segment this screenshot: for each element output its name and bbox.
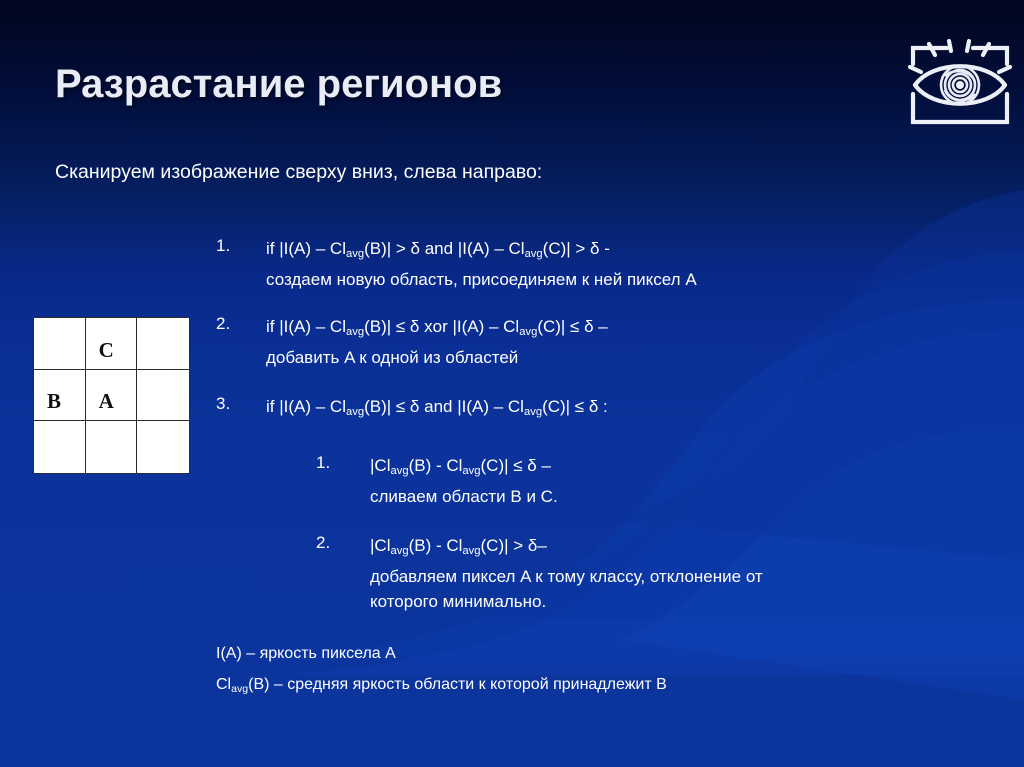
sublist-item-line: |Clavg(B) - Clavg(C)| > δ– [370, 533, 763, 564]
list-item-body: if |I(A) – Clavg(B)| ≤ δ and |I(A) – Cla… [266, 394, 608, 425]
eye-logo-icon [905, 38, 1015, 134]
grid-cell [86, 421, 138, 473]
pixel-neighborhood-grid: C B A [33, 317, 190, 474]
slide-canvas: Разрастание регионов [0, 0, 1024, 767]
sublist-item-body: |Clavg(B) - Clavg(C)| ≤ δ – сливаем обла… [370, 453, 558, 509]
list-item-line: if |I(A) – Clavg(B)| ≤ δ xor |I(A) – Cla… [266, 314, 608, 345]
grid-cell [137, 370, 189, 422]
sublist-item-line: |Clavg(B) - Clavg(C)| ≤ δ – [370, 453, 558, 484]
sublist-item-number: 2. [316, 533, 330, 553]
list-item-body: if |I(A) – Clavg(B)| ≤ δ xor |I(A) – Cla… [266, 314, 608, 370]
list-item-number: 2. [216, 314, 230, 334]
grid-cell [34, 318, 86, 370]
list-item-number: 3. [216, 394, 230, 414]
sublist-item-line: добавляем пиксел A к тому классу, отклон… [370, 564, 763, 589]
list-item-number: 1. [216, 236, 230, 256]
list-item-line: if |I(A) – Clavg(B)| ≤ δ and |I(A) – Cla… [266, 394, 608, 425]
grid-cell: C [86, 318, 138, 370]
list-item-line: if |I(A) – Clavg(B)| > δ and |I(A) – Cla… [266, 236, 697, 267]
list-item-line: добавить A к одной из областей [266, 345, 608, 370]
grid-cell [34, 421, 86, 473]
subtitle-text: Сканируем изображение сверху вниз, слева… [55, 161, 542, 184]
grid-cell [137, 318, 189, 370]
grid-cell-label: A [99, 389, 114, 414]
legend-line-1: I(A) – яркость пиксела A [216, 645, 396, 664]
list-item-body: if |I(A) – Clavg(B)| > δ and |I(A) – Cla… [266, 236, 697, 292]
sublist-item-body: |Clavg(B) - Clavg(C)| > δ– добавляем пик… [370, 533, 763, 614]
grid-cell: A [86, 370, 138, 422]
legend-line-2: Clavg(B) – средняя яркость области к кот… [216, 676, 667, 695]
grid-cell [137, 421, 189, 473]
grid-cell-label: C [99, 338, 114, 363]
page-title: Разрастание регионов [55, 62, 502, 107]
sublist-item-line: которого минимально. [370, 589, 763, 614]
list-item-line: создаем новую область, присоединяем к не… [266, 267, 697, 292]
sublist-item-line: сливаем области B и C. [370, 484, 558, 509]
grid-cell-label: B [47, 389, 61, 414]
sublist-item-number: 1. [316, 453, 330, 473]
grid-cell: B [34, 370, 86, 422]
